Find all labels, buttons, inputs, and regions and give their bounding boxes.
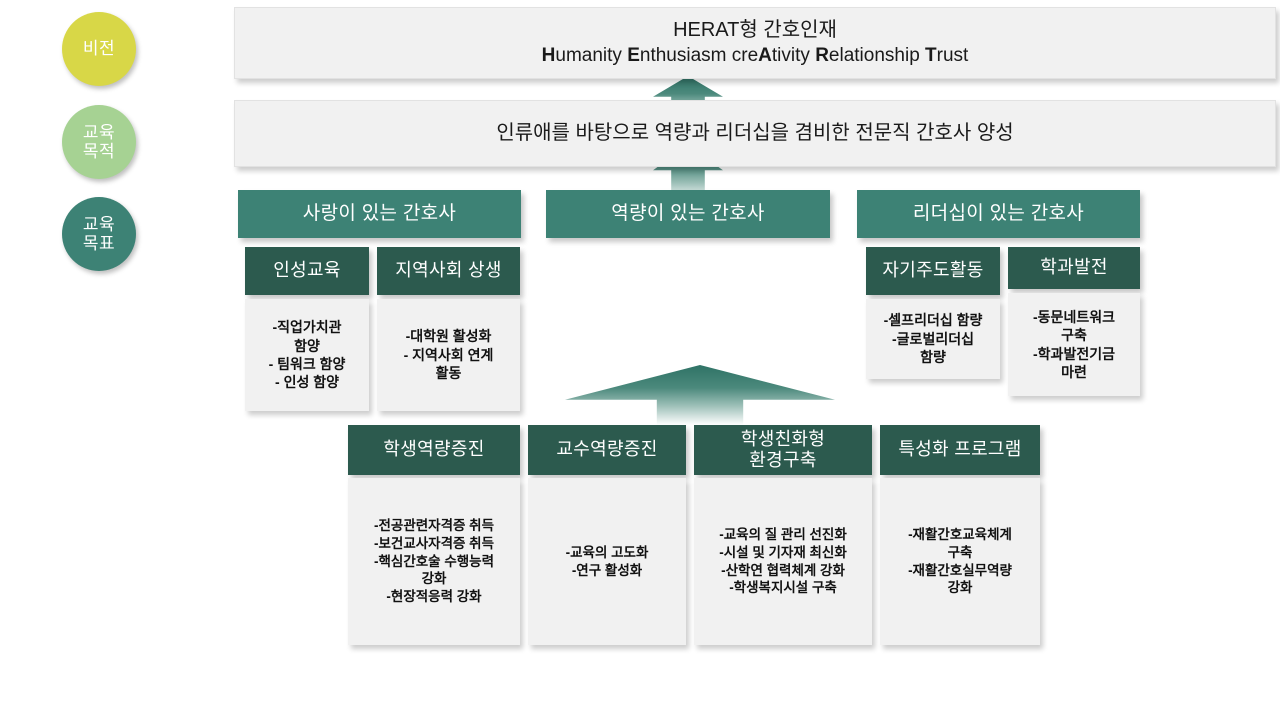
bottom-header-교수역량증진-label: 교수역량증진 (556, 439, 657, 460)
rail-circle-purpose: 교육 목적 (62, 105, 136, 179)
rail-circle-vision: 비전 (62, 12, 136, 86)
sub-header-인성교육: 인성교육 (245, 247, 369, 295)
rail-circle-objective: 교육 목표 (62, 197, 136, 271)
rail-circle-objective-line-1: 교육 (83, 215, 115, 234)
pillar-header-competency-label: 역량이 있는 간호사 (611, 203, 764, 226)
bottom-body-학생역량증진: -전공관련자격증 취득 -보건교사자격증 취득 -핵심간호술 수행능력 강화 -… (348, 478, 520, 645)
sub-body-인성교육: -직업가치관 함양 - 팀워크 함양 - 인성 함양 (245, 299, 369, 411)
bottom-header-특성화프로그램-label: 특성화 프로그램 (898, 439, 1021, 460)
rail-circle-purpose-line-2: 목적 (83, 142, 115, 161)
bottom-header-학생역량증진-label: 학생역량증진 (383, 439, 484, 460)
sub-header-학과발전: 학과발전 (1008, 247, 1140, 289)
bottom-header-학생역량증진: 학생역량증진 (348, 425, 520, 475)
bottom-header-교수역량증진: 교수역량증진 (528, 425, 686, 475)
arrow-up-strategy (565, 365, 835, 425)
rail-circle-vision-line-1: 비전 (83, 39, 115, 58)
sub-body-지역사회상생: -대학원 활성화 - 지역사회 연계 활동 (377, 299, 520, 411)
bottom-header-학생친화형환경구축: 학생친화형 환경구축 (694, 425, 872, 475)
sub-header-인성교육-label: 인성교육 (273, 260, 340, 281)
vision-banner: HERAT형 간호인재 Humanity Enthusiasm creAtivi… (234, 7, 1276, 79)
purpose-text: 인류애를 바탕으로 역량과 리더십을 겸비한 전문직 간호사 양성 (496, 121, 1013, 147)
vision-title: HERAT형 간호인재 (673, 18, 837, 44)
sub-header-지역사회상생-label: 지역사회 상생 (395, 260, 501, 281)
purpose-banner: 인류애를 바탕으로 역량과 리더십을 겸비한 전문직 간호사 양성 (234, 100, 1276, 167)
pillar-header-competency: 역량이 있는 간호사 (546, 190, 830, 238)
bottom-body-학생친화형환경구축: -교육의 질 관리 선진화 -시설 및 기자재 최신화 -산학연 협력체계 강화… (694, 478, 872, 645)
bottom-body-특성화프로그램: -재활간호교육체계 구축 -재활간호실무역량 강화 (880, 478, 1040, 645)
sub-body-자기주도활동: -셀프리더십 함량 -글로벌리더십 함량 (866, 299, 1000, 379)
sub-header-자기주도활동: 자기주도활동 (866, 247, 1000, 295)
sub-body-학과발전: -동문네트워크 구축 -학과발전기금 마련 (1008, 293, 1140, 396)
pillar-header-leadership-label: 리더십이 있는 간호사 (913, 203, 1084, 226)
sub-header-자기주도활동-label: 자기주도활동 (882, 260, 983, 281)
diagram-canvas: 비전 교육 목적 교육 목표 HERAT형 간호인재 Humanity Enth… (0, 0, 1280, 720)
pillar-header-leadership: 리더십이 있는 간호사 (857, 190, 1140, 238)
vision-acronym: Humanity Enthusiasm creAtivity Relations… (542, 44, 969, 68)
bottom-header-특성화프로그램: 특성화 프로그램 (880, 425, 1040, 475)
sub-header-학과발전-label: 학과발전 (1040, 257, 1107, 278)
pillar-header-love-label: 사랑이 있는 간호사 (303, 203, 456, 226)
rail-circle-objective-line-2: 목표 (83, 234, 115, 253)
bottom-body-교수역량증진: -교육의 고도화 -연구 활성화 (528, 478, 686, 645)
sub-header-지역사회상생: 지역사회 상생 (377, 247, 520, 295)
rail-circle-purpose-line-1: 교육 (83, 123, 115, 142)
pillar-header-love: 사랑이 있는 간호사 (238, 190, 521, 238)
